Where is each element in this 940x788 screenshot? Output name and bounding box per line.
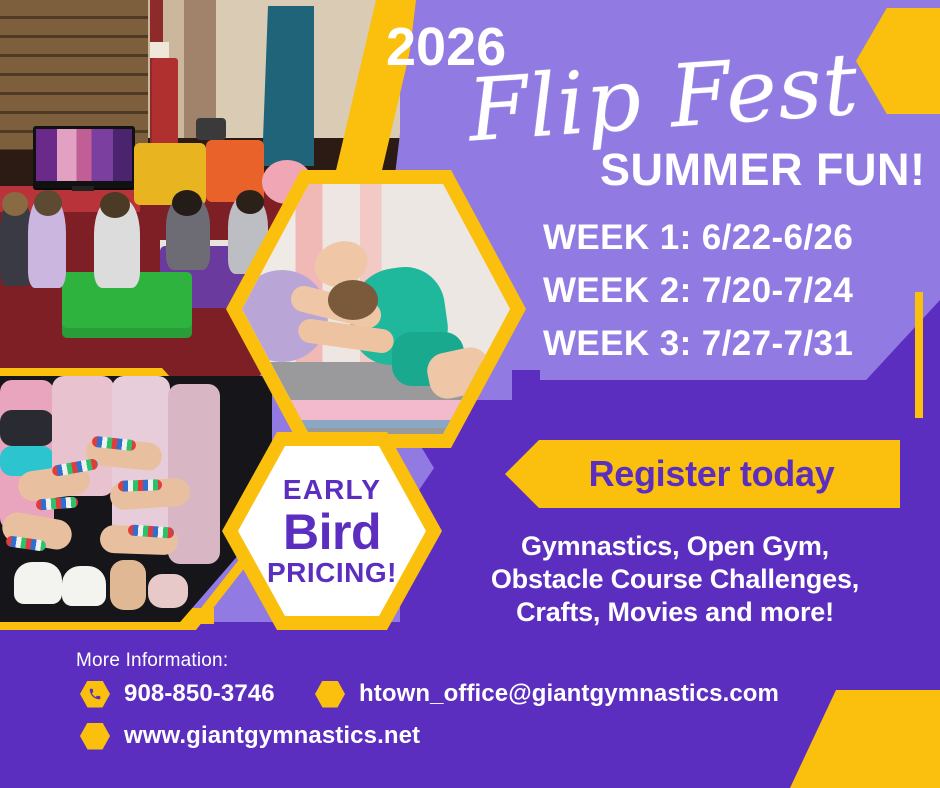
email-address: htown_office@giantgymnastics.com — [359, 680, 779, 708]
activities-line-2: Obstacle Course Challenges, — [440, 563, 910, 596]
email-icon — [315, 681, 345, 708]
week-row-3: WEEK 3: 7/27-7/31 — [543, 324, 853, 364]
activities-line-1: Gymnastics, Open Gym, — [440, 530, 910, 563]
website-icon — [80, 723, 110, 750]
week-schedule-list: WEEK 1: 6/22-6/26 WEEK 2: 7/20-7/24 WEEK… — [543, 218, 853, 377]
week-row-2: WEEK 2: 7/20-7/24 — [543, 271, 853, 311]
summer-camp-flyer: EARLY Bird PRICING! 2026 Flip Fest SUMME… — [0, 0, 940, 788]
register-button[interactable]: Register today — [505, 440, 900, 508]
activities-list: Gymnastics, Open Gym, Obstacle Course Ch… — [440, 530, 910, 630]
headline-tagline: SUMMER FUN! — [600, 144, 925, 196]
vertical-bar-accent — [915, 292, 923, 418]
phone-icon — [80, 681, 110, 708]
more-information-label: More Information: — [76, 650, 228, 672]
phone-number: 908-850-3746 — [124, 680, 275, 708]
week-row-1: WEEK 1: 6/22-6/26 — [543, 218, 853, 258]
badge-line-pricing: PRICING! — [267, 559, 397, 587]
website-url: www.giantgymnastics.net — [124, 722, 420, 750]
contact-row-phone[interactable]: 908-850-3746 — [80, 680, 275, 708]
badge-line-early: EARLY — [283, 476, 381, 504]
early-bird-badge: EARLY Bird PRICING! — [238, 446, 426, 616]
contact-row-website[interactable]: www.giantgymnastics.net — [80, 722, 420, 750]
activities-line-3: Crafts, Movies and more! — [440, 596, 910, 629]
badge-line-bird: Bird — [283, 507, 381, 557]
contact-row-email[interactable]: htown_office@giantgymnastics.com — [315, 680, 779, 708]
register-button-label: Register today — [571, 453, 835, 495]
